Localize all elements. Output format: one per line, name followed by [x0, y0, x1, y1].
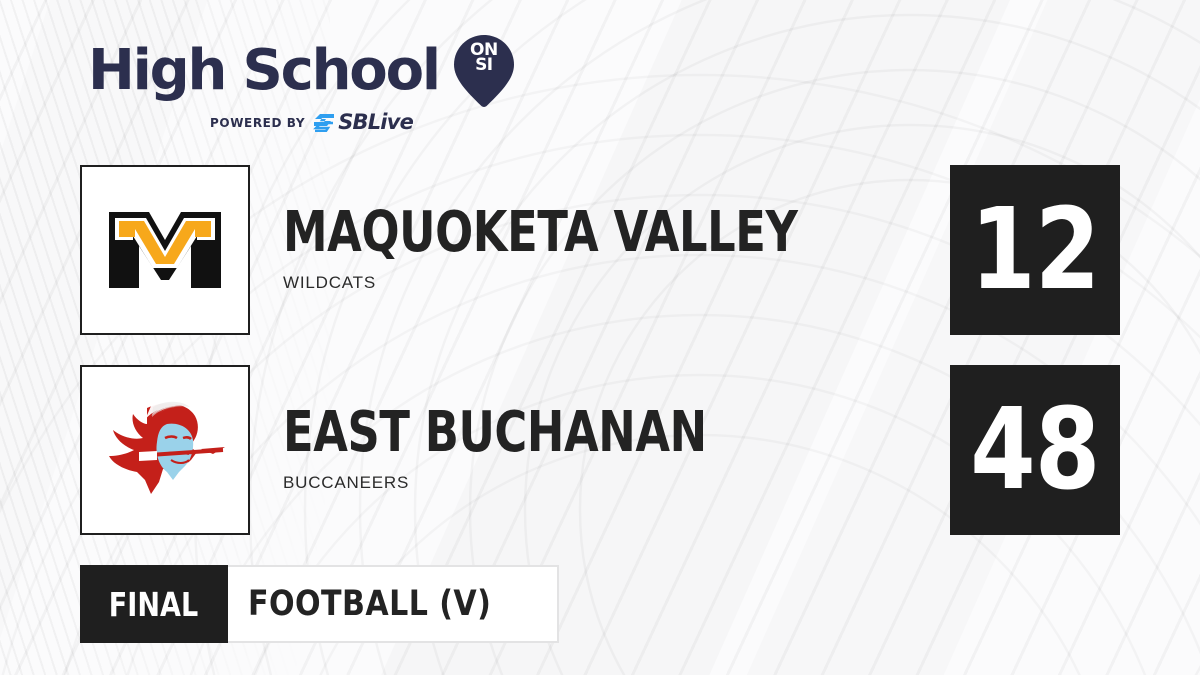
status-badge-label: FINAL [109, 585, 198, 624]
east-buchanan-buccaneer-logo [80, 365, 250, 535]
location-pin-icon: ON SI [453, 34, 515, 108]
team-score-value: 48 [970, 394, 1099, 506]
pin-text: ON SI [453, 43, 515, 73]
team-text-block: MAQUOKETA VALLEY WILDCATS [283, 207, 950, 294]
team-mascot: BUCCANEERS [283, 473, 950, 493]
sblive-s-mark-icon [313, 113, 335, 132]
sblive-logo: SBLive [313, 112, 413, 133]
team-name: MAQUOKETA VALLEY [283, 207, 817, 260]
sport-label-text: FOOTBALL (V) [248, 584, 491, 624]
team-score-box: 48 [950, 365, 1120, 535]
team-row: MAQUOKETA VALLEY WILDCATS 12 [80, 165, 1120, 335]
sport-label: FOOTBALL (V) [228, 565, 559, 643]
brand-wordmark: High School [88, 43, 439, 99]
powered-by-row: POWERED BY SBLive [210, 112, 413, 133]
team-row: EAST BUCHANAN BUCCANEERS 48 [80, 365, 1120, 535]
brand-primary-row: High School ON SI [88, 34, 515, 108]
team-text-block: EAST BUCHANAN BUCCANEERS [283, 407, 950, 494]
team-name: EAST BUCHANAN [283, 407, 817, 460]
team-mascot: WILDCATS [283, 273, 950, 293]
powered-by-label: POWERED BY [210, 116, 305, 130]
maquoketa-valley-block-m-logo [80, 165, 250, 335]
team-score-box: 12 [950, 165, 1120, 335]
pin-text-line2: SI [453, 58, 515, 73]
brand-lockup: High School ON SI POWERED BY SBLive [88, 34, 515, 133]
status-badge: FINAL [80, 565, 228, 643]
team-score-value: 12 [970, 194, 1099, 306]
scoreboard-graphic: High School ON SI POWERED BY SBLive [0, 0, 1200, 675]
game-status-bar: FINAL FOOTBALL (V) [80, 565, 559, 643]
sblive-wordmark: SBLive [338, 112, 413, 133]
